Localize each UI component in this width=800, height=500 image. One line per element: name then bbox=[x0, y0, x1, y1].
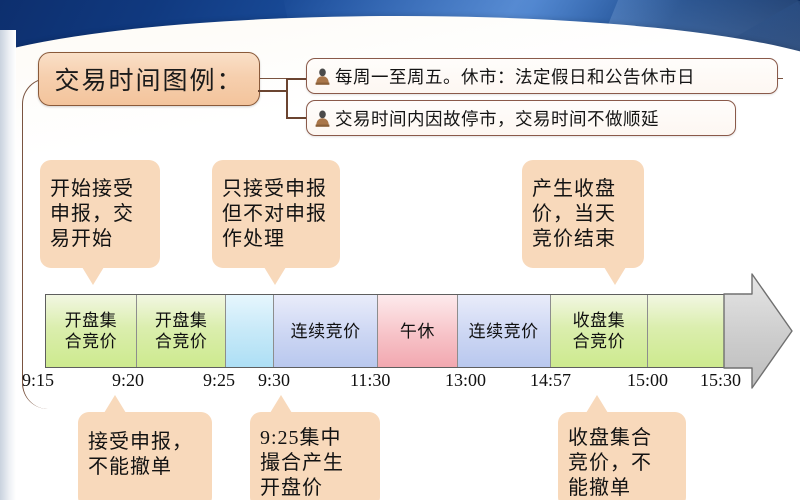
segment-continuous-1: 连续竞价 bbox=[274, 295, 378, 367]
segment-label: 开盘集合竞价 bbox=[155, 310, 208, 352]
connector-branch-bottom bbox=[286, 117, 306, 119]
note-text: 交易时间内因故停市，交易时间不做顺延 bbox=[335, 106, 659, 131]
page-title: 交易时间图例： bbox=[38, 52, 260, 106]
bubble-line: 接受申报， bbox=[88, 430, 193, 455]
bubble-tail bbox=[604, 267, 626, 285]
bubble-line: 开始接受 bbox=[50, 177, 134, 202]
connector-branch-top bbox=[286, 78, 306, 80]
tick-label: 13:00 bbox=[445, 370, 486, 391]
segment-label: 收盘集合竞价 bbox=[573, 310, 626, 352]
segment-opening-call-1: 开盘集合竞价 bbox=[46, 295, 137, 367]
tick-label: 14:57 bbox=[530, 370, 571, 391]
tick-label: 9:25 bbox=[203, 370, 235, 391]
bubble-line: 申报，交 bbox=[50, 202, 134, 227]
bubble-line: 开盘价 bbox=[260, 476, 323, 500]
note-box-trading-days: 每周一至周五。休市：法定假日和公告休市日 bbox=[306, 58, 778, 94]
bubble-line: 但不对申报 bbox=[222, 202, 327, 227]
bubble-closing-no-cancel: 收盘集合 竞价，不 能撤单 bbox=[558, 412, 686, 500]
tick-label: 9:15 bbox=[22, 370, 54, 391]
bubble-line: 只接受申报 bbox=[222, 177, 327, 202]
tick-label: 9:20 bbox=[112, 370, 144, 391]
bubble-line: 竞价，不 bbox=[568, 451, 652, 476]
page-title-label: 交易时间图例： bbox=[54, 61, 243, 97]
segment-label: 午休 bbox=[400, 321, 435, 342]
person-icon bbox=[315, 68, 330, 85]
bubble-line: 9:25集中 bbox=[260, 426, 342, 451]
connector-horizontal bbox=[258, 90, 286, 92]
segment-label: 连续竞价 bbox=[469, 321, 539, 342]
bubble-closing-price: 产生收盘 价，当天 竞价结束 bbox=[522, 160, 644, 268]
bubble-line: 撮合产生 bbox=[260, 451, 344, 476]
bubble-no-cancel: 接受申报， 不能撤单 bbox=[78, 412, 212, 500]
trading-timeline: 开盘集合竞价 开盘集合竞价 连续竞价 午休 连续竞价 收盘集合竞价 bbox=[45, 294, 725, 368]
bubble-line: 不能撤单 bbox=[88, 455, 172, 480]
bubble-tail bbox=[586, 395, 608, 413]
note-text: 每周一至周五。休市：法定假日和公告休市日 bbox=[335, 64, 695, 89]
segment-opening-call-2: 开盘集合竞价 bbox=[137, 295, 227, 367]
bubble-line: 产生收盘 bbox=[532, 177, 616, 202]
bubble-line: 易开始 bbox=[50, 227, 113, 252]
bubble-accept-only: 只接受申报 但不对申报 作处理 bbox=[212, 160, 340, 268]
tick-label: 9:30 bbox=[258, 370, 290, 391]
person-icon bbox=[315, 110, 330, 127]
tick-label: 15:30 bbox=[700, 370, 741, 391]
page-left-edge bbox=[0, 30, 16, 500]
segment-continuous-2: 连续竞价 bbox=[458, 295, 551, 367]
bubble-925-match: 9:25集中 撮合产生 开盘价 bbox=[250, 412, 380, 500]
bubble-line: 作处理 bbox=[222, 227, 285, 252]
connector-vertical bbox=[286, 78, 288, 118]
bubble-start-accept: 开始接受 申报，交 易开始 bbox=[40, 160, 160, 268]
segment-closing-call: 收盘集合竞价 bbox=[551, 295, 649, 367]
bubble-tail bbox=[264, 267, 286, 285]
slide-canvas: 交易时间图例： 每周一至周五。休市：法定假日和公告休市日 交易时间内因故停市，交… bbox=[0, 0, 800, 500]
segment-quiet bbox=[226, 295, 274, 367]
bubble-tail bbox=[270, 395, 292, 413]
segment-lunch-break: 午休 bbox=[378, 295, 458, 367]
bubble-tail bbox=[104, 395, 126, 413]
bubble-tail bbox=[82, 267, 104, 285]
bubble-line: 收盘集合 bbox=[568, 426, 652, 451]
bubble-line: 能撤单 bbox=[568, 476, 631, 500]
tick-label: 11:30 bbox=[350, 370, 390, 391]
tick-label: 15:00 bbox=[627, 370, 668, 391]
bubble-line: 价，当天 bbox=[532, 202, 616, 227]
segment-label: 开盘集合竞价 bbox=[65, 310, 118, 352]
note-box-no-extension: 交易时间内因故停市，交易时间不做顺延 bbox=[306, 100, 736, 136]
segment-label: 连续竞价 bbox=[291, 321, 361, 342]
segment-after-close bbox=[648, 295, 724, 367]
bubble-line: 竞价结束 bbox=[532, 227, 616, 252]
